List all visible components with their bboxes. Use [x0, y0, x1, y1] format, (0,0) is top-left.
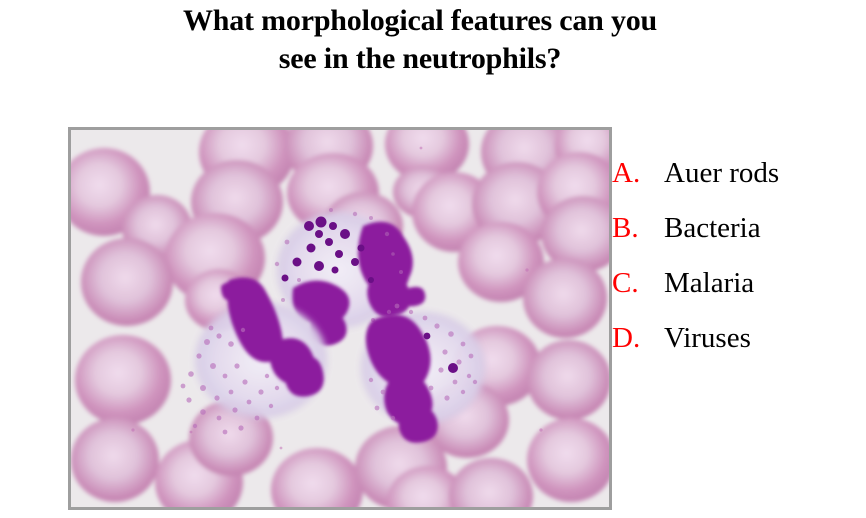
answer-option-b-letter: B.	[612, 211, 664, 245]
answer-options-list: A. Auer rods B. Bacteria C. Malaria D. V…	[612, 156, 862, 376]
page-title: What morphological features can you see …	[0, 2, 866, 78]
answer-option-b[interactable]: B. Bacteria	[612, 211, 862, 266]
answer-option-c[interactable]: C. Malaria	[612, 266, 862, 321]
answer-option-a[interactable]: A. Auer rods	[612, 156, 862, 211]
answer-option-d-text: Viruses	[664, 321, 751, 355]
micrograph-image	[71, 130, 609, 507]
bacterium-dot	[424, 333, 431, 340]
answer-option-a-letter: A.	[612, 156, 664, 190]
answer-option-d-letter: D.	[612, 321, 664, 355]
blood-smear-micrograph	[68, 127, 612, 510]
page-title-line-2: see in the neutrophils?	[0, 40, 840, 78]
bacterium-dot	[448, 363, 458, 373]
answer-option-d[interactable]: D. Viruses	[612, 321, 862, 376]
answer-option-a-text: Auer rods	[664, 156, 779, 190]
answer-option-b-text: Bacteria	[664, 211, 761, 245]
page-title-line-1: What morphological features can you	[0, 2, 840, 40]
answer-option-c-text: Malaria	[664, 266, 754, 300]
answer-option-c-letter: C.	[612, 266, 664, 300]
